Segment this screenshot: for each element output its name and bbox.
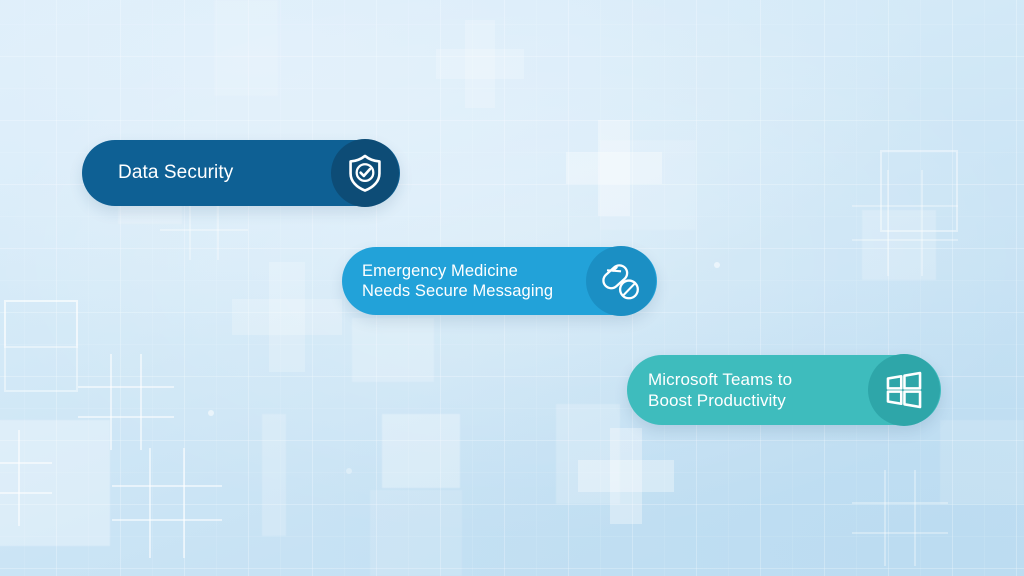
background-square xyxy=(262,414,286,536)
windows-logo-icon xyxy=(868,354,940,426)
background-square xyxy=(382,414,460,488)
topic-pill-label: Data Security xyxy=(118,161,233,185)
background-cross-outline xyxy=(852,470,948,566)
pills-capsule-icon xyxy=(586,246,656,316)
background-cross-filled xyxy=(566,120,662,216)
background-cross-filled xyxy=(578,428,674,524)
slide-canvas: Data Security Emergency Medicine Needs S… xyxy=(0,0,1024,576)
background-cross-outline xyxy=(852,170,958,276)
background-cross-filled xyxy=(436,20,524,108)
background-square xyxy=(370,490,462,576)
topic-pill-emergency-medicine[interactable]: Emergency Medicine Needs Secure Messagin… xyxy=(342,247,657,315)
topic-pill-label: Emergency Medicine Needs Secure Messagin… xyxy=(362,261,553,302)
background-cross-outline xyxy=(0,430,52,526)
background-dot xyxy=(346,468,352,474)
background-rect-outline xyxy=(4,300,78,392)
background-cross-filled xyxy=(232,262,342,372)
background-square xyxy=(352,318,434,382)
background-dot xyxy=(714,262,720,268)
background-square xyxy=(214,0,278,96)
background-square xyxy=(940,420,1024,504)
topic-pill-label: Microsoft Teams to Boost Productivity xyxy=(648,369,792,411)
topic-pill-data-security[interactable]: Data Security xyxy=(82,140,400,206)
shield-check-icon xyxy=(331,139,399,207)
background-dot xyxy=(208,410,214,416)
topic-pill-microsoft-teams[interactable]: Microsoft Teams to Boost Productivity xyxy=(627,355,941,425)
background-cross-outline xyxy=(78,354,174,450)
background-cross-outline xyxy=(112,448,222,558)
